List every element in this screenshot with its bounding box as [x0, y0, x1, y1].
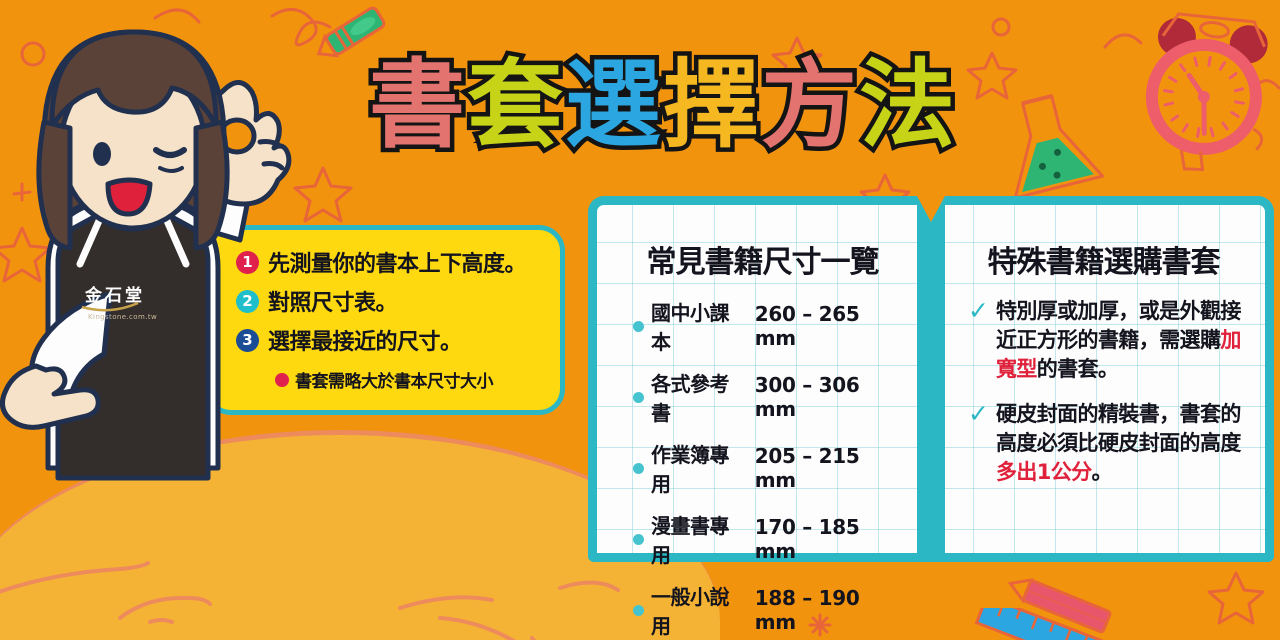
size-row: 作業簿專用 205 – 215 mm: [633, 439, 906, 497]
left-page-title: 常見書籍尺寸一覽: [619, 237, 906, 281]
size-row: 一般小說用 188 – 190 mm: [633, 581, 906, 639]
tip-text-after: 的書套。: [1037, 357, 1119, 381]
step-text-3: 選擇最接近的尺寸。: [268, 324, 462, 356]
title-char-5: 法: [859, 57, 955, 153]
infographic-canvas: 書 套 選 擇 方 法 1 先測量你的書本上下高度。 2 對照尺寸表。 3 選擇…: [0, 0, 1280, 640]
book-right-page: 特殊書籍選購書套 ✓ 特別厚或加厚，或是外觀接近正方形的書籍，需選購加寬型的書套…: [938, 196, 1274, 562]
apron-logo-url: Kingstone.com.tw: [88, 313, 157, 321]
tip-text-before: 硬皮封面的精裝書，書套的高度必須比硬皮封面的高度: [996, 402, 1241, 455]
pencil-icon: [1000, 575, 1120, 640]
size-value: 205 – 215 mm: [755, 444, 906, 492]
tip-highlight: 多出1公分: [996, 460, 1092, 484]
book-panel: 常見書籍尺寸一覽 國中小課本 260 – 265 mm 各式參考書 300 – …: [588, 196, 1274, 562]
tip-item: ✓ 特別厚或加厚，或是外觀接近正方形的書籍，需選購加寬型的書套。: [968, 297, 1247, 384]
step-text-1: 先測量你的書本上下高度。: [268, 246, 526, 278]
tip-item: ✓ 硬皮封面的精裝書，書套的高度必須比硬皮封面的高度多出1公分。: [968, 400, 1247, 487]
size-row: 漫畫書專用 170 – 185 mm: [633, 510, 906, 568]
size-value: 260 – 265 mm: [755, 302, 906, 350]
tip-text-before: 特別厚或加厚，或是外觀接近正方形的書籍，需選購: [996, 299, 1241, 352]
alarm-clock-icon: [1125, 5, 1280, 175]
mouth: [108, 180, 150, 214]
title-char-4: 方: [761, 57, 857, 153]
size-row: 各式參考書 300 – 306 mm: [633, 368, 906, 426]
tip-text-after: 。: [1092, 460, 1112, 484]
size-value: 188 – 190 mm: [755, 586, 906, 634]
tip-text: 特別厚或加厚，或是外觀接近正方形的書籍，需選購加寬型的書套。: [996, 297, 1247, 384]
bullet-dot-icon: [633, 321, 644, 332]
size-row: 國中小課本 260 – 265 mm: [633, 297, 906, 355]
flask-icon: [990, 92, 1110, 202]
book-left-page: 常見書籍尺寸一覽 國中小課本 260 – 265 mm 各式參考書 300 – …: [588, 196, 924, 562]
tip-text: 硬皮封面的精裝書，書套的高度必須比硬皮封面的高度多出1公分。: [996, 400, 1247, 487]
bullet-dot-icon: [633, 392, 644, 403]
title-char-0: 書: [369, 57, 465, 153]
size-label: 作業簿專用: [651, 439, 748, 497]
size-label: 各式參考書: [651, 368, 748, 426]
bullet-dot-icon: [633, 463, 644, 474]
kingstone-clerk-mascot: 金石堂 Kingstone.com.tw: [0, 18, 292, 498]
title-char-2: 選: [565, 57, 661, 153]
size-label: 一般小說用: [651, 581, 748, 639]
title-char-3: 擇: [663, 57, 759, 153]
right-page-title: 特殊書籍選購書套: [960, 237, 1247, 281]
bullet-dot-icon: [633, 534, 644, 545]
title-char-1: 套: [467, 57, 563, 153]
bullet-dot-icon: [633, 605, 644, 616]
size-value: 300 – 306 mm: [755, 373, 906, 421]
size-label: 漫畫書專用: [651, 510, 748, 568]
check-icon: ✓: [968, 400, 989, 487]
eye-left: [93, 142, 111, 166]
page-title: 書 套 選 擇 方 法: [372, 46, 952, 164]
ruler-icon: [970, 608, 1130, 640]
book-spine: [917, 196, 945, 562]
size-value: 170 – 185 mm: [755, 515, 906, 563]
note-text: 書套需略大於書本尺寸大小: [295, 367, 493, 392]
check-icon: ✓: [968, 297, 989, 384]
size-label: 國中小課本: [651, 297, 748, 355]
